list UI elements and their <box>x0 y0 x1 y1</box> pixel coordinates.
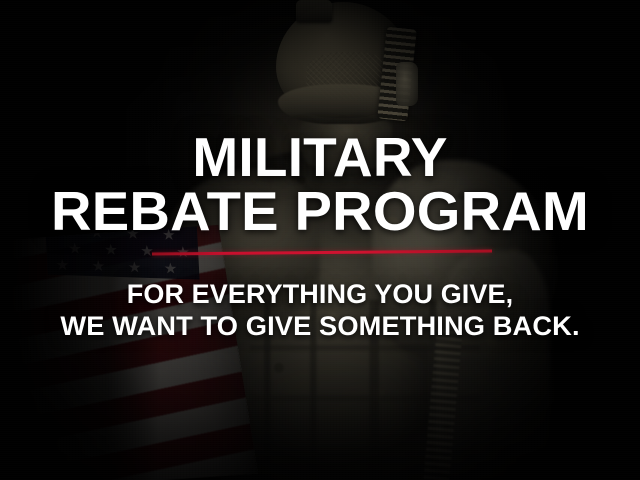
subheadline-line-2: WE WANT TO GIVE SOMETHING BACK. <box>0 311 640 342</box>
headline-line-1: MILITARY <box>0 131 640 185</box>
military-rebate-program-banner: ★ ★ ★ ★ ★ ★ ★ ★ ★ ★ ★ ★ ★ ★ ★ ★ ★ ★ ★ ★ … <box>0 0 640 480</box>
text-overlay: MILITARY REBATE PROGRAM FOR EVERYTHING Y… <box>0 0 640 480</box>
red-divider-rule <box>152 250 492 256</box>
subheadline-line-1: FOR EVERYTHING YOU GIVE, <box>0 279 640 310</box>
headline-line-2: REBATE PROGRAM <box>0 185 640 239</box>
